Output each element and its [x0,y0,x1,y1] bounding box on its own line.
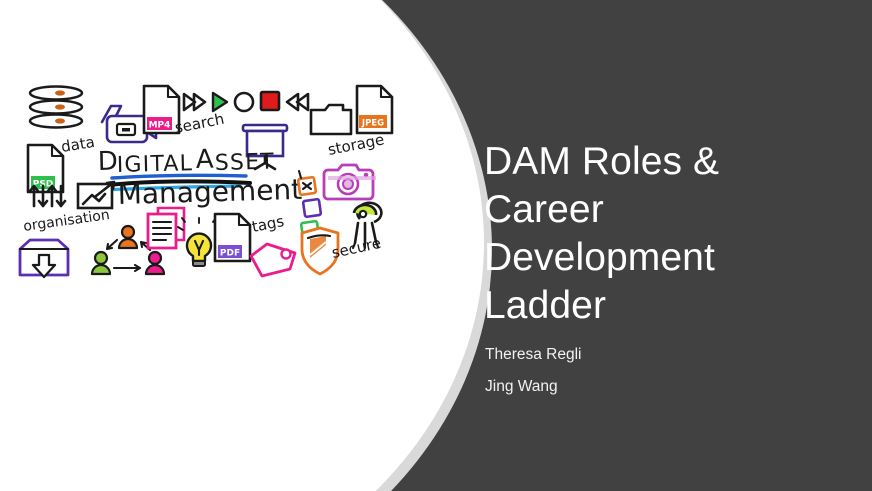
play-icon [213,93,227,111]
slide-canvas: .ink{fill:none;stroke:#1a1a1a;stroke-wid… [0,0,872,491]
rewind-icon [287,94,308,110]
label-search: search [173,110,225,137]
folder-icon [311,105,351,134]
svg-text:PDF: PDF [220,249,240,259]
record-circle-icon [235,93,253,111]
disk-stack-icon [30,87,82,128]
svg-text:data: data [60,133,96,156]
svg-text:organisation: organisation [22,207,110,235]
svg-text:Management: Management [117,173,302,211]
photo-camera-icon [324,165,376,199]
inbox-download-icon [20,240,68,277]
author-name-2: Jing Wang [485,371,815,403]
stop-square-icon [261,92,279,110]
svg-text:search: search [173,110,225,137]
svg-text:SSET: SSET [215,150,276,176]
slide-subtitle[interactable]: Theresa Regli Jing Wang [485,339,815,403]
price-tag-icon [251,244,295,276]
slide-title[interactable]: DAM Roles & Career Development Ladder [484,138,814,330]
pdf-file-icon: PDF [215,214,250,261]
headline-management: Management [117,173,302,211]
label-organisation: organisation [22,207,110,235]
title-line-3: Development [484,234,814,282]
dam-doodle-illustration: .ink{fill:none;stroke:#1a1a1a;stroke-wid… [0,0,484,491]
svg-text:A: A [195,145,215,175]
title-line-4: Ladder [484,282,814,330]
illustration-container: .ink{fill:none;stroke:#1a1a1a;stroke-wid… [0,0,484,491]
fast-forward-icon [184,94,205,110]
label-tags: tags [250,212,285,236]
label-data: data [60,133,96,156]
title-line-2: Career [484,186,814,234]
svg-text:MP4: MP4 [149,121,171,131]
svg-text:tags: tags [250,212,285,236]
svg-text:JPEG: JPEG [361,119,384,129]
jpeg-file-icon: JPEG [357,86,392,133]
title-line-1: DAM Roles & [484,138,814,186]
image-frame-icon [78,182,114,208]
author-name-1: Theresa Regli [485,339,815,371]
picture-placeholder-ellipse[interactable]: .ink{fill:none;stroke:#1a1a1a;stroke-wid… [0,0,484,491]
